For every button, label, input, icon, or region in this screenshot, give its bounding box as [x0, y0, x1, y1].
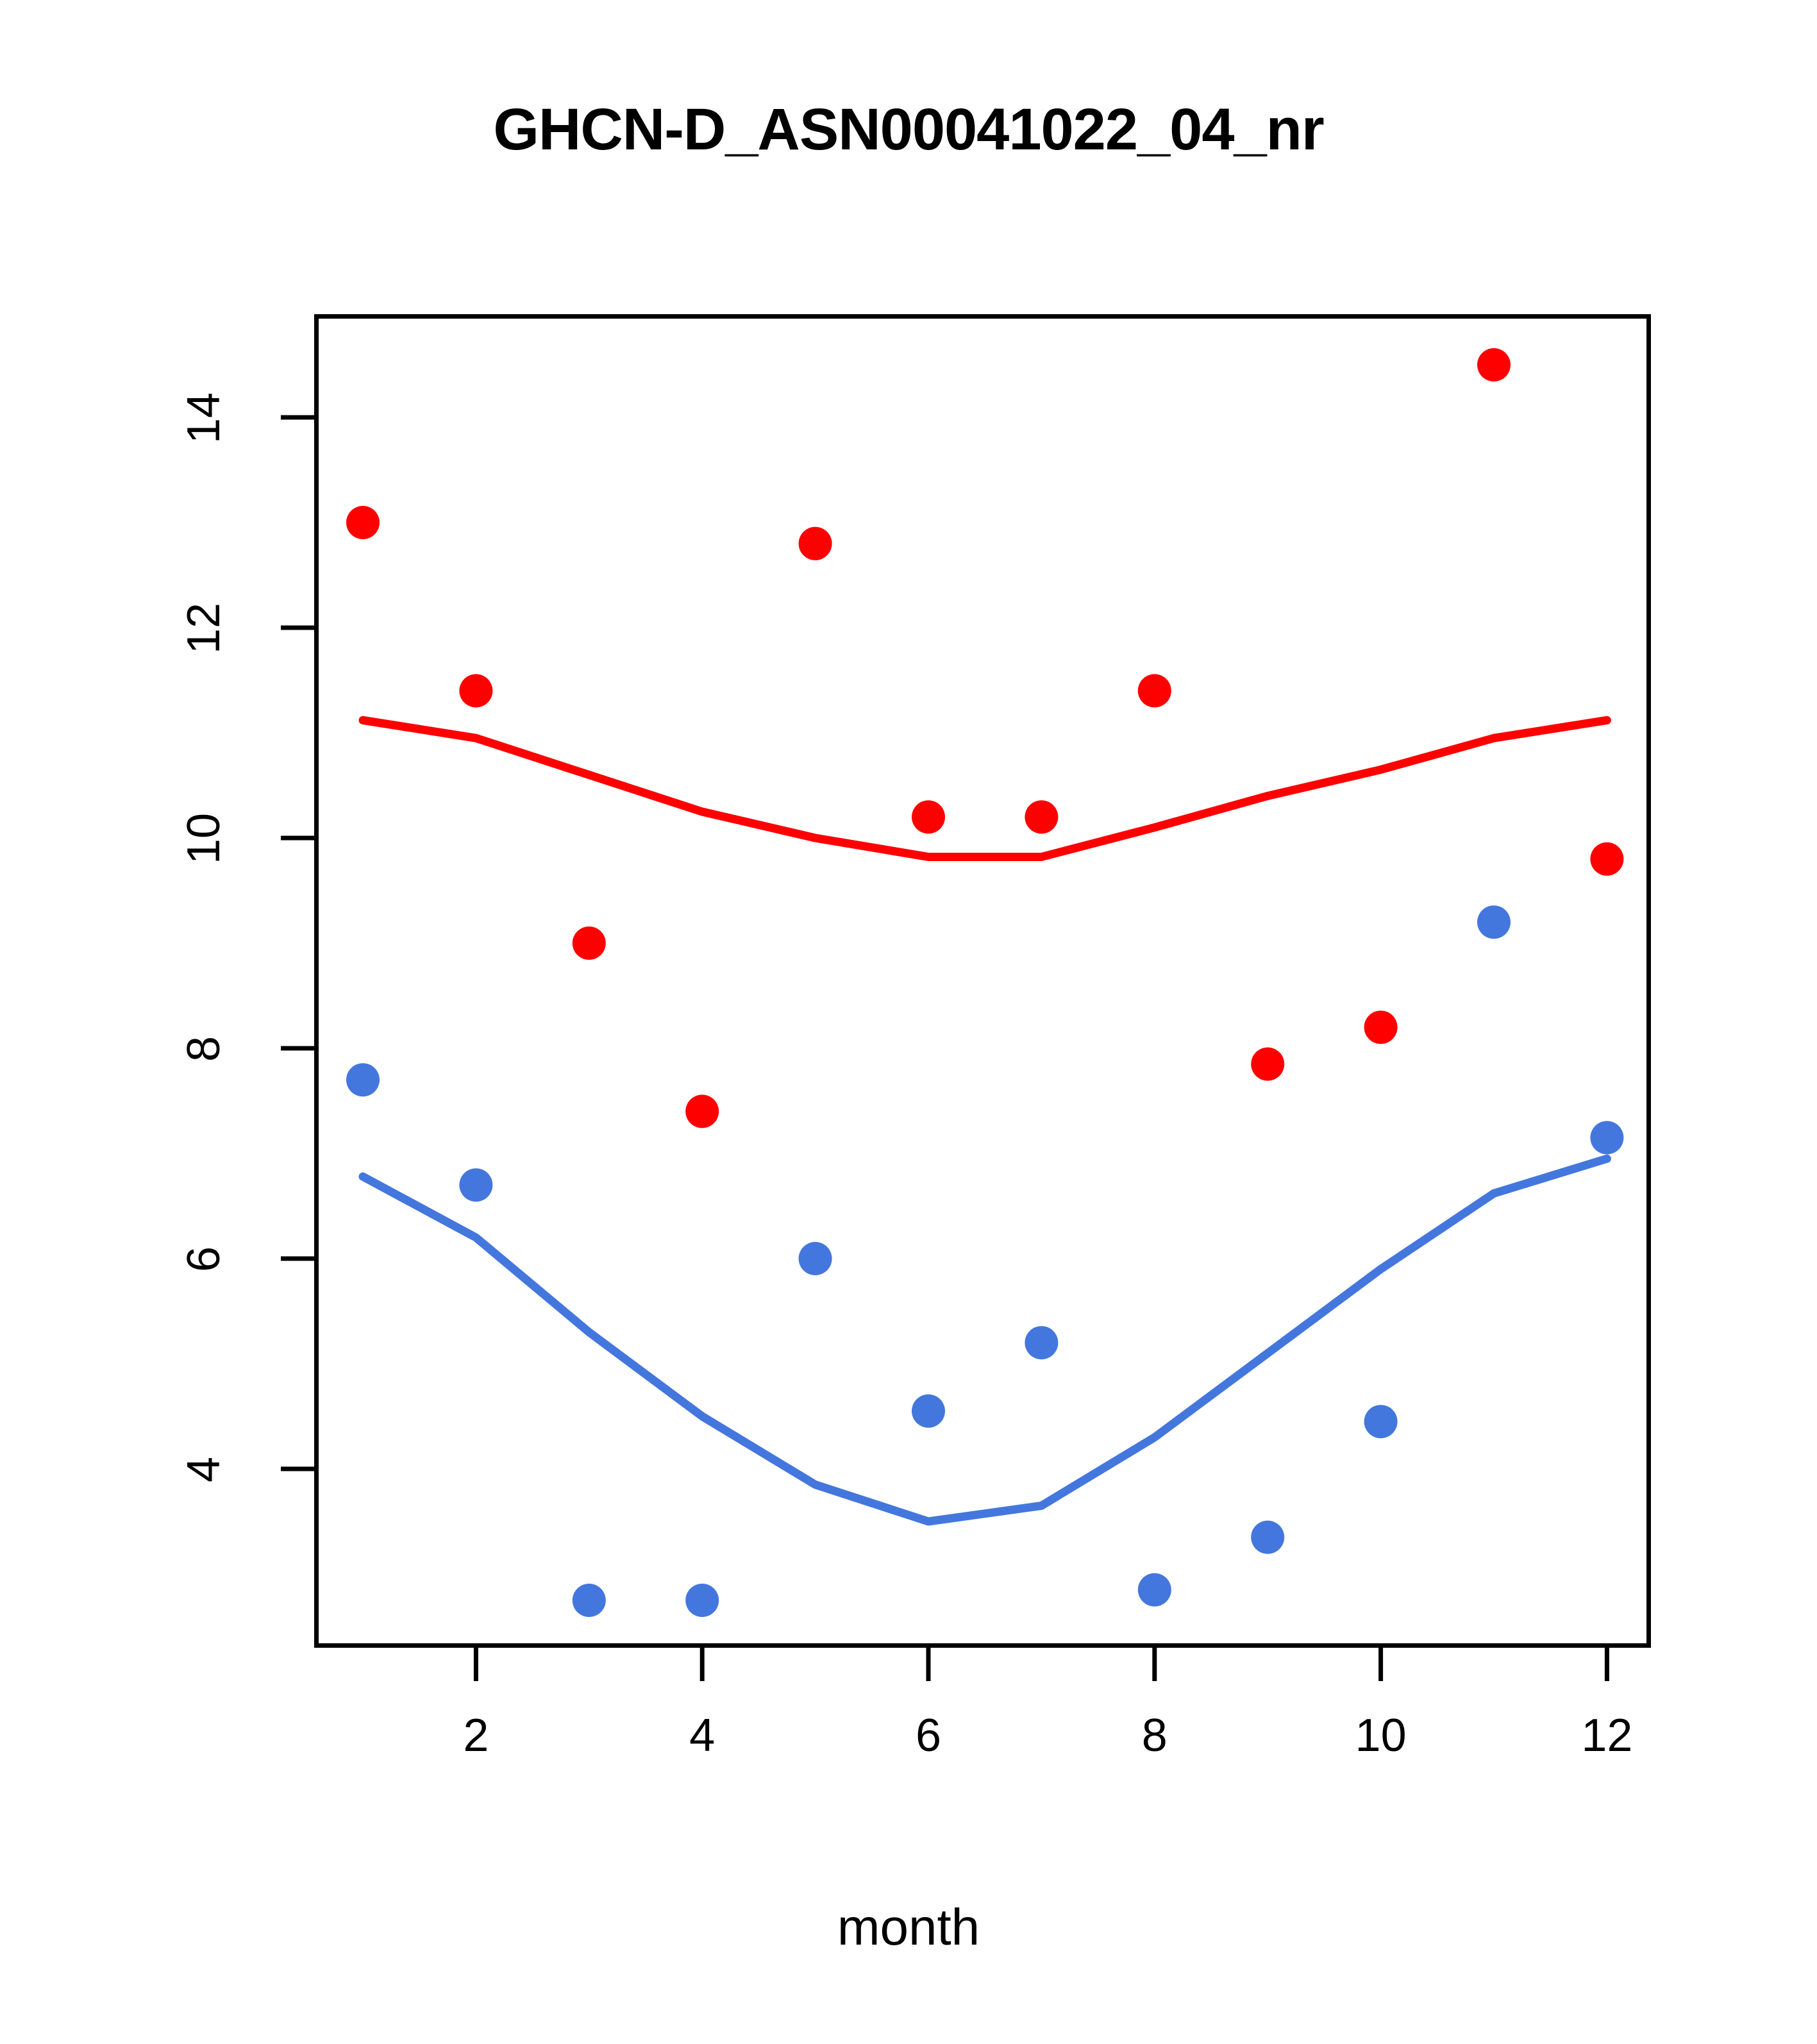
y-axis-tick-label: 8	[178, 998, 230, 1100]
data-points	[346, 348, 1623, 1617]
x-axis-title: month	[0, 1898, 1817, 1957]
data-point	[1138, 1573, 1171, 1607]
data-point	[912, 1395, 945, 1428]
data-point	[799, 527, 832, 560]
data-point	[1251, 1048, 1284, 1081]
data-point	[346, 506, 380, 539]
data-point	[1025, 800, 1058, 834]
y-axis-tick-label: 14	[178, 367, 230, 469]
data-point	[459, 1168, 492, 1202]
data-point	[1364, 1010, 1398, 1044]
data-point	[1477, 905, 1511, 939]
data-point	[685, 1584, 719, 1617]
data-point	[1477, 348, 1511, 381]
x-axis-tick-label: 12	[1536, 1709, 1677, 1762]
x-axis-tick-label: 2	[405, 1709, 546, 1762]
data-point	[1590, 842, 1623, 876]
x-axis-tick-label: 8	[1084, 1709, 1225, 1762]
chart-page: GHCN-D_ASN00041022_04_nr 468101214 24681…	[0, 0, 1817, 2044]
data-point	[912, 800, 945, 834]
data-point	[799, 1242, 832, 1275]
y-axis-tick-label: 12	[178, 577, 230, 680]
data-point	[346, 1063, 380, 1096]
x-axis-tick-label: 10	[1310, 1709, 1452, 1762]
data-point	[685, 1094, 719, 1128]
data-point	[1025, 1326, 1058, 1359]
x-axis-tick-label: 4	[632, 1709, 773, 1762]
fit-line-upper-fit	[363, 720, 1607, 857]
data-point	[573, 1584, 606, 1617]
x-axis-tick-label: 6	[858, 1709, 999, 1762]
fit-lines	[363, 720, 1607, 1521]
axis-ticks	[281, 417, 1607, 1681]
data-point	[1251, 1521, 1284, 1554]
data-point	[1364, 1405, 1398, 1438]
data-point	[459, 674, 492, 707]
y-axis-tick-label: 6	[178, 1208, 230, 1311]
data-point	[1138, 674, 1171, 707]
data-point	[1590, 1121, 1623, 1154]
fit-line-lower-fit	[363, 1159, 1607, 1521]
data-point	[573, 926, 606, 960]
y-axis-tick-label: 4	[178, 1418, 230, 1521]
y-axis-tick-label: 10	[178, 787, 230, 890]
